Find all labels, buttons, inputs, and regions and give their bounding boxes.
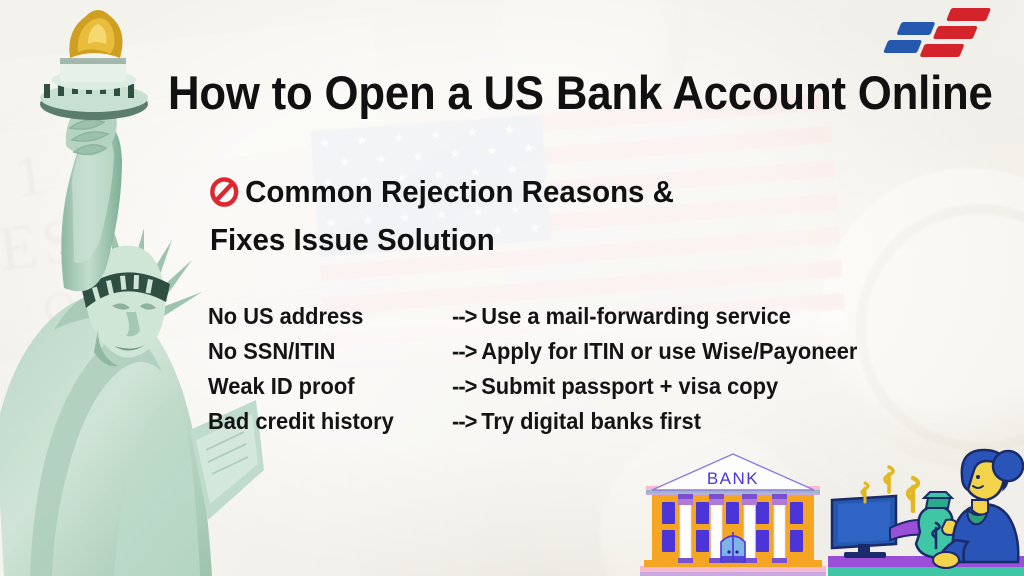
solution-text: Use a mail-forwarding service <box>481 303 791 329</box>
subtitle-line-1: Common Rejection Reasons & <box>210 168 818 216</box>
subtitle-line-2: Fixes Issue Solution <box>210 216 818 264</box>
table-row: Bad credit history-->Try digital banks f… <box>208 408 908 443</box>
issue-text: Weak ID proof <box>208 373 440 400</box>
solution-text: Try digital banks first <box>481 408 701 434</box>
subtitle-block: Common Rejection Reasons & Fixes Issue S… <box>210 168 818 264</box>
bank-building-illustration: BANK <box>638 446 828 576</box>
issue-solution-table: No US address-->Use a mail-forwarding se… <box>208 303 908 443</box>
solution-cell: -->Try digital banks first <box>452 408 701 435</box>
slide-canvas: E 1 TES O ★★★★★★★★★★★★★★★★★★★★★★★★★★★★★★… <box>0 0 1024 576</box>
subtitle-text-1: Common Rejection Reasons & <box>245 174 674 209</box>
issue-text: No SSN/ITIN <box>208 338 440 365</box>
arrow-icon: --> <box>452 303 476 329</box>
solution-text: Apply for ITIN or use Wise/Payoneer <box>481 338 857 364</box>
solution-text: Submit passport + visa copy <box>481 373 778 399</box>
arrow-icon: --> <box>452 373 476 399</box>
table-row: No US address-->Use a mail-forwarding se… <box>208 303 908 338</box>
bank-sign-text: BANK <box>707 469 759 488</box>
solution-cell: -->Apply for ITIN or use Wise/Payoneer <box>452 338 857 365</box>
arrow-icon: --> <box>452 408 476 434</box>
table-row: No SSN/ITIN-->Apply for ITIN or use Wise… <box>208 338 908 373</box>
solution-cell: -->Use a mail-forwarding service <box>452 303 791 330</box>
page-title: How to Open a US Bank Account Online <box>168 68 856 118</box>
table-row: Weak ID proof-->Submit passport + visa c… <box>208 373 908 408</box>
arrow-icon: --> <box>452 338 476 364</box>
issue-text: Bad credit history <box>208 408 440 435</box>
woman-with-money-bag-illustration <box>828 444 1024 576</box>
bank-of-america-logo <box>866 6 1014 68</box>
issue-text: No US address <box>208 303 440 330</box>
solution-cell: -->Submit passport + visa copy <box>452 373 778 400</box>
prohibited-icon <box>210 173 239 203</box>
